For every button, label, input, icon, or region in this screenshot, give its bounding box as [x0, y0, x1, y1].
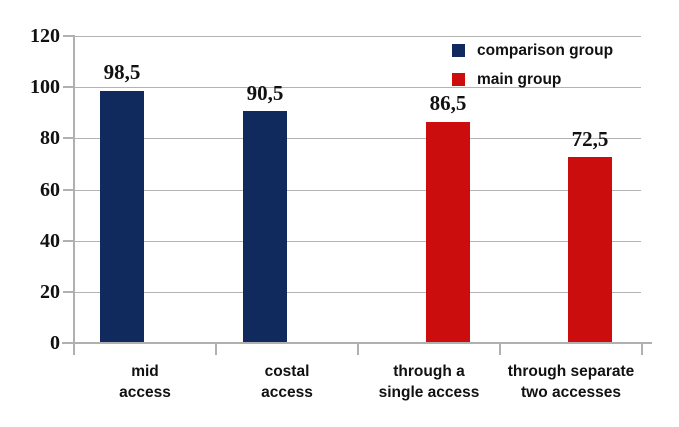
category-line-4b: two accesses	[500, 383, 642, 404]
y-axis-label-40: 40	[0, 231, 60, 251]
bar-through-separate-two-accesses[interactable]	[568, 157, 612, 343]
legend-item-main-group[interactable]: main group	[452, 65, 613, 94]
y-tick-120	[63, 35, 74, 37]
y-axis-label-0: 0	[0, 333, 60, 353]
y-tick-80	[63, 137, 74, 139]
x-axis-category-label-4: through separate two accesses	[500, 362, 642, 404]
bar-costal-access[interactable]	[243, 111, 287, 343]
category-line-4a: through separate	[500, 362, 642, 383]
gridline-40	[74, 241, 641, 242]
y-axis-label-120: 120	[0, 26, 60, 46]
legend: comparison group main group	[452, 36, 613, 94]
y-tick-60	[63, 189, 74, 191]
category-line-1b: access	[74, 383, 216, 404]
gridline-60	[74, 190, 641, 191]
x-tick-4	[641, 344, 643, 355]
y-tick-20	[63, 291, 74, 293]
y-tick-40	[63, 240, 74, 242]
x-axis-category-label-3: through a single access	[358, 362, 500, 404]
bar-chart: 120 100 80 60 40 20 0 98,5 90,5 86,5 72,…	[0, 0, 679, 427]
bar-value-label-2: 90,5	[215, 83, 315, 104]
y-axis-label-80: 80	[0, 128, 60, 148]
x-axis-category-label-2: costal access	[216, 362, 358, 404]
gridline-20	[74, 292, 641, 293]
legend-label-main-group: main group	[477, 71, 561, 89]
legend-label-comparison-group: comparison group	[477, 42, 613, 60]
y-axis-label-60: 60	[0, 180, 60, 200]
bar-value-label-4: 72,5	[540, 129, 640, 150]
x-tick-0	[73, 344, 75, 355]
category-line-3a: through a	[358, 362, 500, 383]
x-tick-2	[357, 344, 359, 355]
bar-value-label-1: 98,5	[72, 62, 172, 83]
y-axis-label-100: 100	[0, 77, 60, 97]
bar-mid-access[interactable]	[100, 91, 144, 343]
bar-through-a-single-access[interactable]	[426, 122, 470, 343]
category-line-2a: costal	[216, 362, 358, 383]
x-axis-category-label-1: mid access	[74, 362, 216, 404]
y-tick-100	[63, 86, 74, 88]
category-line-1a: mid	[74, 362, 216, 383]
legend-swatch-icon-comparison-group	[452, 44, 465, 57]
bar-value-label-3: 86,5	[398, 93, 498, 114]
x-tick-3	[499, 344, 501, 355]
category-line-2b: access	[216, 383, 358, 404]
category-line-3b: single access	[358, 383, 500, 404]
legend-item-comparison-group[interactable]: comparison group	[452, 36, 613, 65]
legend-swatch-icon-main-group	[452, 73, 465, 86]
x-tick-1	[215, 344, 217, 355]
y-axis-label-20: 20	[0, 282, 60, 302]
